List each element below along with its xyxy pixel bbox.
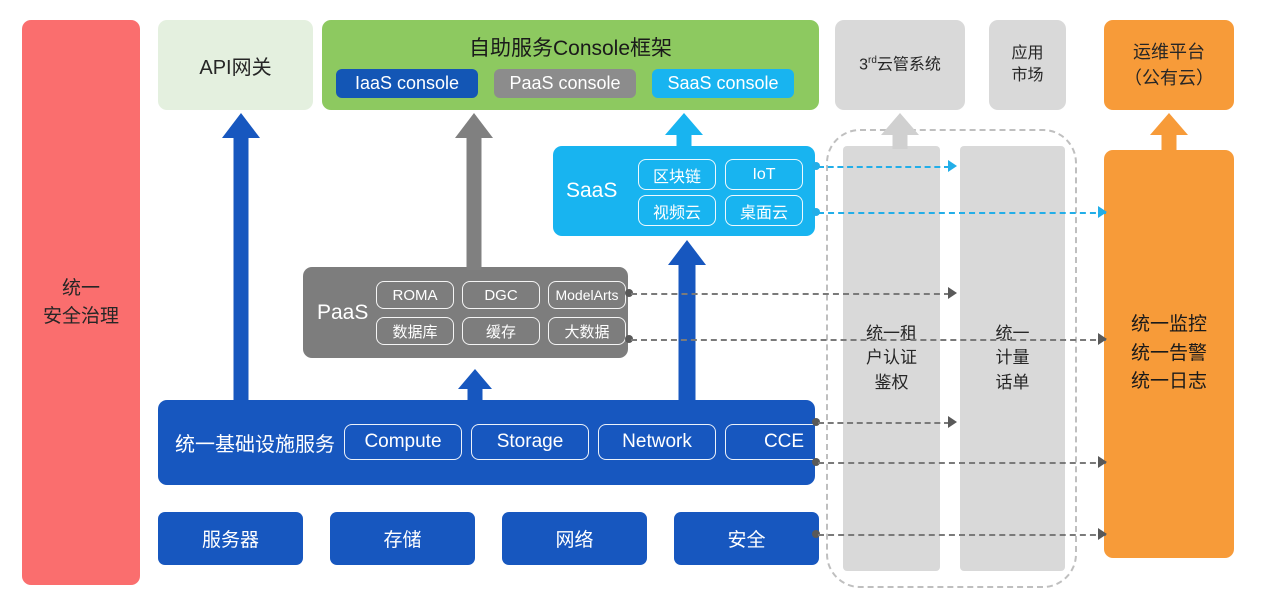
arrow-to-third-party-cloud bbox=[881, 113, 919, 149]
tag-iot-label: IoT bbox=[752, 166, 775, 184]
layer-unified-infrastructure-label: 统一基础设施服务 bbox=[175, 400, 335, 485]
tag-iot[interactable]: IoT bbox=[725, 159, 803, 190]
connector-arrowhead-paas-auth bbox=[948, 287, 957, 299]
tag-blockchain[interactable]: 区块链 bbox=[638, 159, 716, 190]
tag-video-cloud[interactable]: 视频云 bbox=[638, 195, 716, 226]
connector-arrowhead-hardware-ops bbox=[1098, 528, 1107, 540]
tag-storage[interactable]: Storage bbox=[471, 424, 589, 460]
connector-arrowhead-infra-ops bbox=[1098, 456, 1107, 468]
tag-dgc[interactable]: DGC bbox=[462, 281, 540, 309]
tag-cache[interactable]: 缓存 bbox=[462, 317, 540, 345]
column-unified-tenant-auth-label: 统一租 户认证 鉴权 bbox=[866, 322, 917, 396]
panel-app-market: 应用 市场 bbox=[989, 20, 1066, 110]
connector-arrowhead-saas-ops bbox=[1098, 206, 1107, 218]
arrow-infra-to-paas bbox=[458, 369, 492, 401]
chip-saas-console-label: SaaS console bbox=[667, 73, 778, 94]
chip-saas-console[interactable]: SaaS console bbox=[652, 69, 794, 98]
connector-hardware-to-ops bbox=[818, 534, 1106, 536]
panel-app-market-label: 应用 市场 bbox=[1011, 43, 1043, 86]
arrow-infra-to-saas bbox=[668, 240, 706, 401]
connector-arrowhead-paas-ops bbox=[1098, 333, 1107, 345]
tag-compute-label: Compute bbox=[364, 431, 441, 453]
arrow-infra-to-api-gateway bbox=[222, 113, 260, 402]
box-network-label: 网络 bbox=[555, 525, 593, 552]
arrow-paas-to-console bbox=[455, 113, 493, 270]
layer-saas-label: SaaS bbox=[566, 146, 617, 236]
tag-modelarts[interactable]: ModelArts bbox=[548, 281, 626, 309]
tag-cache-label: 缓存 bbox=[486, 321, 516, 342]
console-framework-title: 自助服务Console框架 bbox=[322, 32, 819, 62]
architecture-diagram: 统一 安全治理 API网关 自助服务Console框架 IaaS console… bbox=[0, 0, 1265, 605]
panel-api-gateway-label: API网关 bbox=[199, 51, 271, 80]
box-network[interactable]: 网络 bbox=[502, 512, 647, 565]
panel-third-party-cloud-management-label: 3rd云管系统 bbox=[859, 54, 941, 76]
tag-roma[interactable]: ROMA bbox=[376, 281, 454, 309]
connector-arrowhead-saas-auth bbox=[948, 160, 957, 172]
panel-unified-security-governance-label: 统一 安全治理 bbox=[43, 275, 119, 330]
superscript-rd: rd bbox=[868, 55, 877, 66]
layer-saas: SaaS 区块链 IoT 视频云 桌面云 bbox=[553, 146, 815, 236]
tag-database-label: 数据库 bbox=[392, 321, 437, 342]
tag-desktop-cloud-label: 桌面云 bbox=[740, 199, 788, 223]
box-server[interactable]: 服务器 bbox=[158, 512, 303, 565]
box-server-label: 服务器 bbox=[202, 525, 259, 552]
column-unified-metering: 统一 计量 话单 bbox=[960, 146, 1065, 571]
panel-unified-monitoring-alarm-log-label: 统一监控 统一告警 统一日志 bbox=[1131, 311, 1207, 397]
tag-storage-label: Storage bbox=[497, 431, 564, 453]
tag-network[interactable]: Network bbox=[598, 424, 716, 460]
chip-paas-console-label: PaaS console bbox=[509, 73, 620, 94]
chip-iaas-console[interactable]: IaaS console bbox=[336, 69, 478, 98]
panel-console-framework: 自助服务Console框架 IaaS console PaaS console … bbox=[322, 20, 819, 110]
box-storage[interactable]: 存储 bbox=[330, 512, 475, 565]
connector-arrowhead-infra-auth bbox=[948, 416, 957, 428]
tag-cce-label: CCE bbox=[764, 431, 804, 453]
connector-infra-to-ops bbox=[818, 462, 1106, 464]
tag-bigdata-label: 大数据 bbox=[564, 321, 609, 342]
layer-paas: PaaS ROMA DGC ModelArts 数据库 缓存 大数据 bbox=[303, 267, 628, 358]
connector-paas-to-ops bbox=[631, 339, 1106, 341]
tag-modelarts-label: ModelArts bbox=[555, 287, 618, 303]
panel-ops-platform-public-cloud-label: 运维平台 （公有云） bbox=[1124, 39, 1214, 91]
arrow-saas-to-console bbox=[665, 113, 703, 149]
arrow-to-ops-platform bbox=[1150, 113, 1188, 151]
tag-compute[interactable]: Compute bbox=[344, 424, 462, 460]
box-security[interactable]: 安全 bbox=[674, 512, 819, 565]
tag-dgc-label: DGC bbox=[484, 287, 517, 304]
box-security-label: 安全 bbox=[727, 525, 765, 552]
connector-paas-to-auth bbox=[631, 293, 950, 295]
box-storage-label: 存储 bbox=[383, 525, 421, 552]
tag-blockchain-label: 区块链 bbox=[653, 163, 701, 187]
panel-third-party-cloud-management: 3rd云管系统 bbox=[835, 20, 965, 110]
connector-infra-to-auth bbox=[818, 422, 950, 424]
tag-cce[interactable]: CCE bbox=[725, 424, 843, 460]
tag-network-label: Network bbox=[622, 431, 692, 453]
tag-roma-label: ROMA bbox=[393, 287, 438, 304]
tag-video-cloud-label: 视频云 bbox=[653, 199, 701, 223]
layer-paas-label: PaaS bbox=[317, 267, 368, 358]
connector-saas-to-ops bbox=[818, 212, 1106, 214]
chip-iaas-console-label: IaaS console bbox=[355, 73, 459, 94]
panel-api-gateway: API网关 bbox=[158, 20, 313, 110]
chip-paas-console[interactable]: PaaS console bbox=[494, 69, 636, 98]
column-unified-metering-label: 统一 计量 话单 bbox=[996, 322, 1030, 396]
panel-ops-platform-public-cloud: 运维平台 （公有云） bbox=[1104, 20, 1234, 110]
column-unified-tenant-auth: 统一租 户认证 鉴权 bbox=[843, 146, 940, 571]
panel-unified-security-governance: 统一 安全治理 bbox=[22, 20, 140, 585]
layer-unified-infrastructure: 统一基础设施服务 Compute Storage Network CCE bbox=[158, 400, 815, 485]
tag-bigdata[interactable]: 大数据 bbox=[548, 317, 626, 345]
tag-database[interactable]: 数据库 bbox=[376, 317, 454, 345]
connector-saas-to-auth bbox=[818, 166, 950, 168]
tag-desktop-cloud[interactable]: 桌面云 bbox=[725, 195, 803, 226]
panel-unified-monitoring-alarm-log: 统一监控 统一告警 统一日志 bbox=[1104, 150, 1234, 558]
